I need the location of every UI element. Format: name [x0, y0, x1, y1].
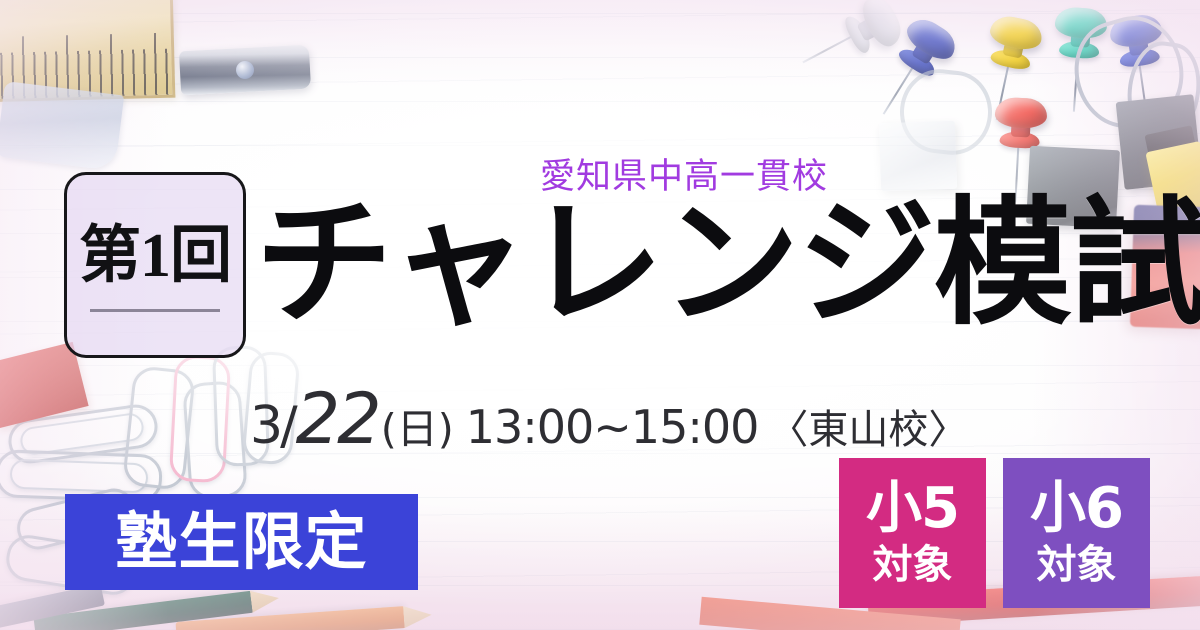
- schedule-venue: 〈東山校〉: [768, 397, 968, 455]
- grade-badge-target-label: 対象: [873, 545, 953, 585]
- poster-canvas: 第1回 愛知県中高一貫校 チャレンジ模試 3 / 22 (日) 13:00~15…: [0, 0, 1200, 630]
- session-number-badge: 第1回: [64, 172, 246, 358]
- members-only-banner: 塾生限定: [65, 494, 418, 590]
- grade-badge-target-label: 対象: [1037, 545, 1117, 585]
- poster-title: チャレンジ模試: [255, 186, 1200, 341]
- members-only-label: 塾生限定: [115, 511, 367, 573]
- schedule-day: 22: [296, 378, 379, 460]
- schedule-day-of-week: (日): [381, 395, 454, 455]
- grade-badge-grade-label: 小6: [1030, 481, 1123, 537]
- session-number-label: 第1回: [79, 225, 231, 287]
- grade-badge-elementary-6: 小6 対象: [1003, 458, 1150, 608]
- grade-badge-elementary-5: 小5 対象: [839, 458, 986, 608]
- schedule-time: 13:00~15:00: [466, 400, 759, 454]
- grade-badge-grade-label: 小5: [866, 481, 959, 537]
- schedule-month: 3: [250, 396, 282, 456]
- session-badge-underline: [90, 309, 220, 312]
- schedule-line: 3 / 22 (日) 13:00~15:00 〈東山校〉: [250, 378, 968, 460]
- poster-content: 第1回 愛知県中高一貫校 チャレンジ模試 3 / 22 (日) 13:00~15…: [0, 0, 1200, 630]
